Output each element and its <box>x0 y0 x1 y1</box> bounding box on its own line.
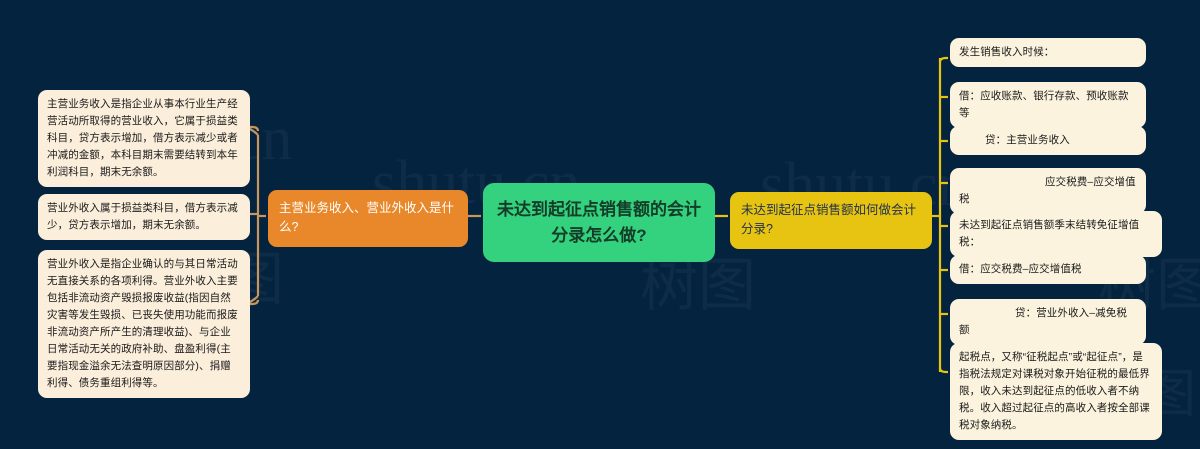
right-leaf-2[interactable]: 借：应收账款、银行存款、预收账款等 <box>950 82 1146 128</box>
right-leaf-7[interactable]: 贷：营业外收入–减免税额 <box>950 299 1146 345</box>
left-leaf-3[interactable]: 营业外收入是指企业确认的与其日常活动无直接关系的各项利得。营业外收入主要包括非流… <box>38 250 250 398</box>
mindmap-canvas: shutu.cn shutu.cn shutu.cn 树图 树图 树图 树图 主… <box>0 0 1200 449</box>
right-leaf-5[interactable]: 未达到起征点销售额季末结转免征增值税： <box>950 211 1162 257</box>
branch-node-left[interactable]: 主营业务收入、营业外收入是什么? <box>268 190 468 247</box>
right-leaf-6[interactable]: 借：应交税费–应交增值税 <box>950 255 1146 284</box>
left-leaf-1[interactable]: 主营业务收入是指企业从事本行业生产经营活动所取得的营业收入，它属于损益类科目，贷… <box>38 90 250 187</box>
center-node[interactable]: 未达到起征点销售额的会计分录怎么做? <box>483 183 715 262</box>
left-leaf-2[interactable]: 营业外收入属于损益类科目，借方表示减少，贷方表示增加，期末无余额。 <box>38 194 250 240</box>
right-leaf-1[interactable]: 发生销售收入时候： <box>950 38 1146 67</box>
right-leaf-8[interactable]: 起税点，又称“征税起点”或“起征点”，是指税法规定对课税对象开始征税的最低界限，… <box>950 343 1162 440</box>
branch-node-right[interactable]: 未达到起征点销售额如何做会计分录? <box>730 192 932 249</box>
right-leaf-3[interactable]: 贷：主营业务收入 <box>950 126 1146 155</box>
right-leaf-4[interactable]: 应交税费–应交增值税 <box>950 168 1146 214</box>
